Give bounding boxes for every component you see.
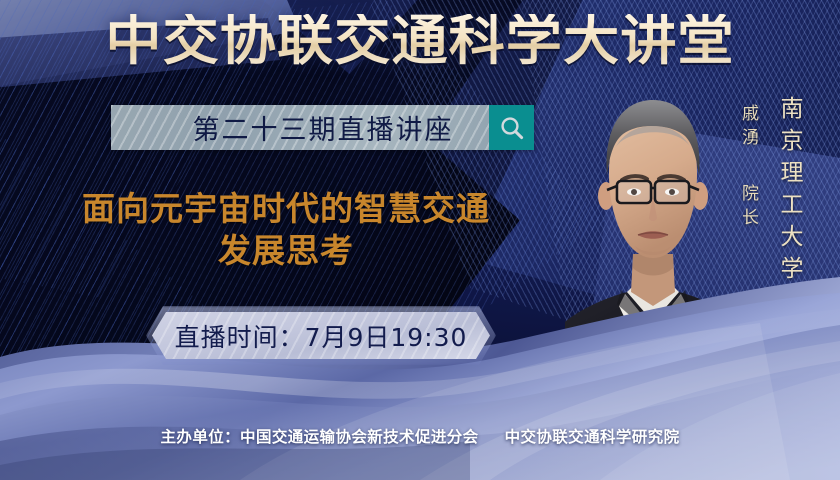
lecture-title: 面向元宇宙时代的智慧交通 发展思考 [26, 188, 546, 272]
organizer-name-2: 中交协联交通科学研究院 [505, 428, 680, 446]
search-icon[interactable] [489, 105, 534, 150]
silk-ribbon-decoration [0, 265, 840, 480]
organizer-label: 主办单位： [161, 428, 241, 446]
broadcast-time-text: 直播时间：7月9日19:30 [175, 318, 468, 354]
speaker-name: 戚湧 [736, 104, 761, 152]
series-label: 第二十三期直播讲座 [147, 108, 454, 147]
lecture-title-line-2: 发展思考 [26, 230, 546, 272]
broadcast-time-pill: 直播时间：7月9日19:30 [152, 312, 490, 359]
speaker-role: 院长 [736, 184, 761, 232]
footer-organizers: 主办单位：中国交通运输协会新技术促进分会中交协联交通科学研究院 [0, 425, 840, 447]
organizer-name-1: 中国交通运输协会新技术促进分会 [240, 428, 479, 446]
series-banner-body: 第二十三期直播讲座 [111, 105, 489, 150]
page-title: 中交协联交通科学大讲堂 [0, 14, 840, 68]
lecture-title-line-1: 面向元宇宙时代的智慧交通 [26, 188, 546, 230]
poster-canvas: 中交协联交通科学大讲堂 第二十三期直播讲座 面向元宇宙时代的智慧交通 发展思考 … [0, 0, 840, 480]
speaker-organization: 南京理工大学 [772, 96, 806, 288]
series-banner: 第二十三期直播讲座 [111, 105, 534, 150]
